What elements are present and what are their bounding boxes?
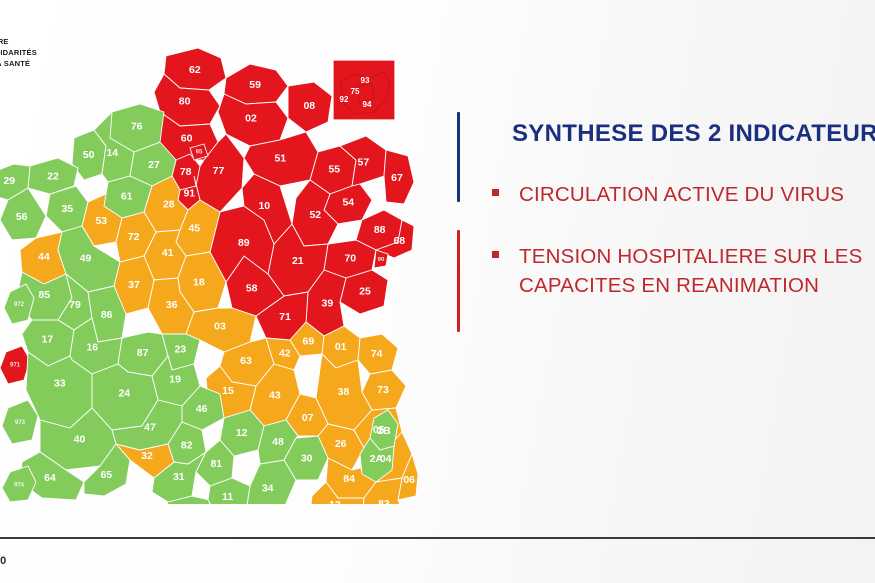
department-label-51: 51 [274,152,286,164]
department-label-72: 72 [128,231,140,243]
department-label-16: 16 [86,342,98,354]
department-label-89: 89 [238,237,250,249]
department-label-58: 58 [246,282,258,294]
department-label-48: 48 [272,436,284,448]
department-label-973: 973 [15,420,26,426]
department-label-54: 54 [342,196,354,208]
department-label-82: 82 [181,439,193,451]
department-label-15: 15 [222,385,234,397]
department-label-55: 55 [328,163,340,175]
department-label-84: 84 [343,473,355,485]
department-label-2B: 2B [377,425,391,437]
department-label-49: 49 [80,252,92,264]
footer-date: 20 [0,555,6,567]
department-label-67: 67 [391,172,403,184]
department-label-60: 60 [181,132,193,144]
department-label-14: 14 [106,147,118,159]
department-label-23: 23 [174,343,186,355]
panel-title: SYNTHESE DES 2 INDICATEURS [512,120,875,148]
department-label-972: 972 [14,302,25,308]
department-label-39: 39 [322,297,334,309]
svg-text:92: 92 [340,95,349,104]
department-label-56: 56 [16,211,28,223]
department-label-17: 17 [42,333,54,345]
department-label-34: 34 [262,483,274,495]
department-label-09: 09 [181,502,193,504]
department-label-36: 36 [166,299,178,311]
department-label-61: 61 [121,190,133,202]
department-label-59: 59 [249,79,261,91]
department-label-47: 47 [144,422,156,434]
department-label-29: 29 [3,175,15,187]
department-label-52: 52 [309,209,321,221]
department-label-22: 22 [47,170,59,182]
department-label-41: 41 [162,247,174,259]
department-label-12: 12 [236,427,248,439]
department-label-90: 90 [378,257,385,263]
department-label-43: 43 [269,389,281,401]
department-label-10: 10 [258,200,270,212]
department-label-42: 42 [279,347,291,359]
footer-divider [0,537,875,539]
department-label-77: 77 [213,165,225,177]
indicator-2-label: TENSION HOSPITALIERE SUR LES CAPACITES E… [519,242,863,300]
indicator-1-label: CIRCULATION ACTIVE DU VIRUS [519,180,844,209]
department-label-83: 83 [378,498,390,504]
department-label-53: 53 [95,215,107,227]
department-label-19: 19 [169,373,181,385]
department-label-69: 69 [303,335,315,347]
svg-text:75: 75 [351,87,360,96]
map-svg: 6259800208605155576754886852709025392171… [0,34,418,504]
department-label-78: 78 [180,166,192,178]
department-label-45: 45 [188,223,200,235]
department-label-86: 86 [101,309,113,321]
department-label-30: 30 [301,452,313,464]
indicator-2-line-2: CAPACITES EN REANIMATION [519,274,819,297]
bullet-square-icon [492,251,499,258]
department-label-81: 81 [210,458,222,470]
department-label-25: 25 [359,285,371,297]
department-label-46: 46 [196,403,208,415]
department-label-74: 74 [371,348,383,360]
department-label-37: 37 [128,279,140,291]
department-label-03: 03 [214,320,226,332]
department-label-13: 13 [329,499,341,504]
department-label-31: 31 [173,471,185,483]
department-label-71: 71 [279,311,291,323]
svg-text:94: 94 [363,100,372,109]
slide-canvas: MINISTÈRE DES SOLIDARITÉS ET DE LA SANTÉ… [0,0,875,583]
accent-bar-red [457,230,460,332]
department-label-2A: 2A [370,453,384,465]
department-label-85: 85 [38,289,50,301]
department-label-07: 07 [302,412,314,424]
indicator-2-line-1: TENSION HOSPITALIERE SUR LES [519,245,863,268]
department-label-38: 38 [338,386,350,398]
department-label-62: 62 [189,64,201,76]
department-label-08: 08 [303,100,315,112]
bullet-square-icon [492,189,499,196]
department-label-76: 76 [131,120,143,132]
department-label-91: 91 [183,187,195,199]
department-label-974: 974 [14,483,25,489]
department-label-87: 87 [137,347,149,359]
indicator-item-1: CIRCULATION ACTIVE DU VIRUS [492,180,844,209]
svg-text:93: 93 [361,76,370,85]
department-label-32: 32 [141,450,153,462]
department-label-57: 57 [358,156,370,168]
department-label-11: 11 [222,491,233,503]
department-label-80: 80 [179,95,191,107]
department-label-95: 95 [196,150,203,156]
department-label-24: 24 [118,388,130,400]
department-label-68: 68 [393,235,405,247]
department-label-02: 02 [245,113,257,125]
department-label-50: 50 [83,149,95,161]
department-label-73: 73 [377,384,389,396]
department-label-63: 63 [240,355,252,367]
department-label-18: 18 [193,277,205,289]
department-label-06: 06 [403,474,415,486]
department-label-33: 33 [54,378,66,390]
department-label-28: 28 [163,198,175,210]
department-label-40: 40 [74,434,86,446]
synthesis-panel: SYNTHESE DES 2 INDICATEURS CIRCULATION A… [452,112,875,332]
department-label-65: 65 [100,469,112,481]
indicator-item-2: TENSION HOSPITALIERE SUR LES CAPACITES E… [492,242,863,300]
department-label-35: 35 [61,203,73,215]
accent-bar-blue [457,112,460,202]
department-label-01: 01 [335,341,347,353]
paris-inset: 93 75 92 94 [333,60,395,120]
department-label-64: 64 [44,472,56,484]
department-label-70: 70 [344,252,356,264]
department-label-971: 971 [10,363,21,369]
france-department-map: 6259800208605155576754886852709025392171… [0,34,418,504]
department-label-21: 21 [292,255,304,267]
department-label-44: 44 [38,251,50,263]
department-label-26: 26 [335,438,347,450]
department-label-79: 79 [69,299,81,311]
department-label-27: 27 [148,159,160,171]
department-label-88: 88 [374,224,386,236]
